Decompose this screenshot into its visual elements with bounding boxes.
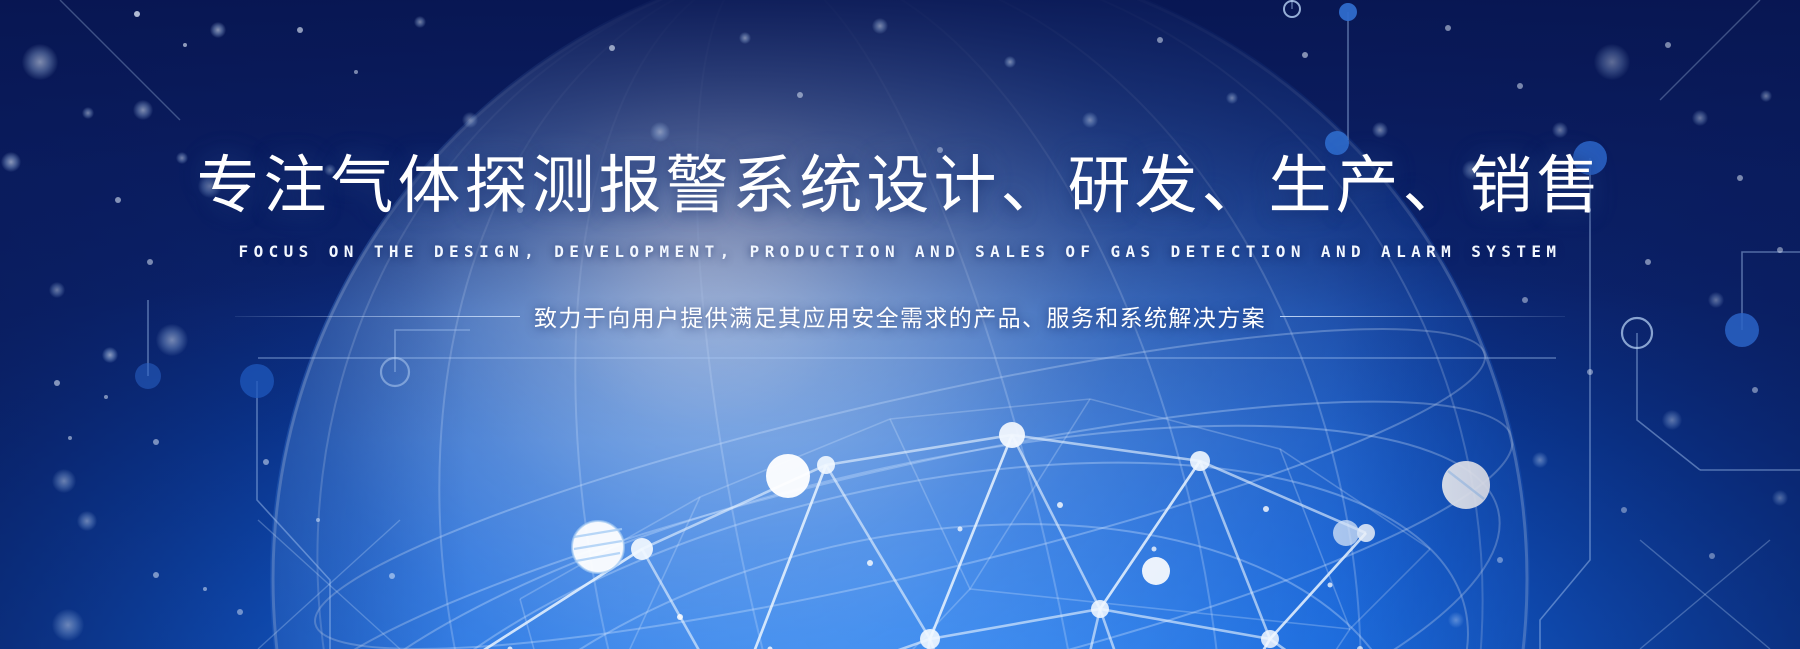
divider-line-right [1280,316,1565,317]
divider-line-left [235,316,520,317]
tagline-row: 致力于向用户提供满足其应用安全需求的产品、服务和系统解决方案 [235,299,1565,333]
subtitle-english: FOCUS ON THE DESIGN, DEVELOPMENT, PRODUC… [239,242,1562,261]
hero-banner: 专注气体探测报警系统设计、研发、生产、销售 FOCUS ON THE DESIG… [0,0,1800,649]
tagline-text: 致力于向用户提供满足其应用安全需求的产品、服务和系统解决方案 [534,299,1266,333]
page-title: 专注气体探测报警系统设计、研发、生产、销售 [197,152,1604,220]
banner-content: 专注气体探测报警系统设计、研发、生产、销售 FOCUS ON THE DESIG… [0,0,1800,649]
